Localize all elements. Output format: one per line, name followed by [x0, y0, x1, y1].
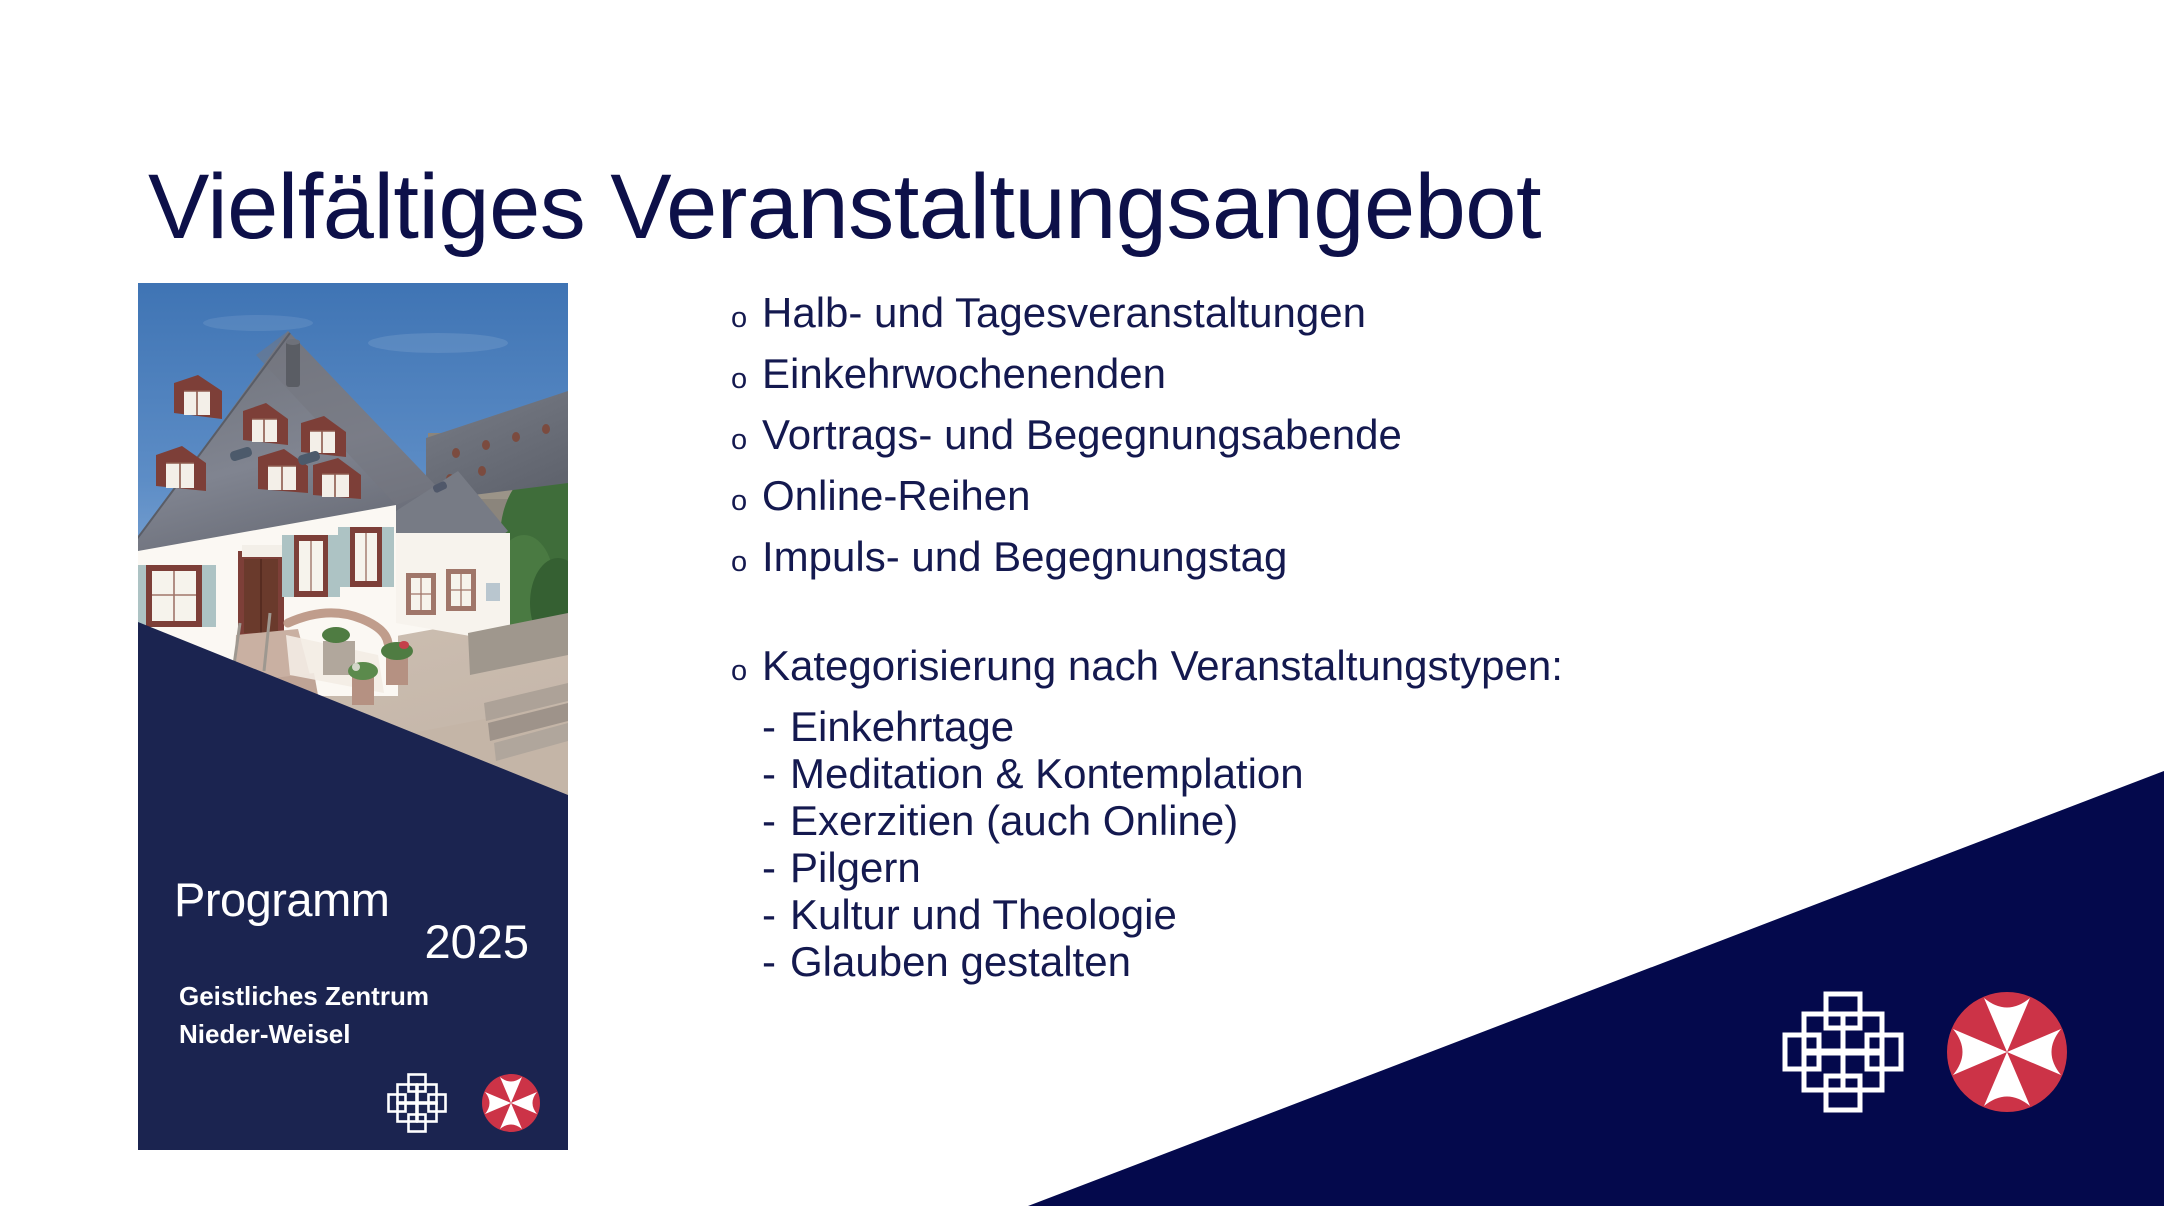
list-item-label: Halb- und Tagesveranstaltungen	[762, 292, 1366, 334]
sublist-item-label: Exerzitien (auch Online)	[790, 800, 1238, 842]
bullet-marker-icon: o	[731, 304, 762, 333]
brochure-navy-overlay	[138, 283, 568, 1150]
list-item-label: Kategorisierung nach Veranstaltungstypen…	[762, 645, 1563, 687]
johanniter-cross-icon	[1785, 994, 1901, 1110]
list-item-categories-heading: o Kategorisierung nach Veranstaltungstyp…	[731, 645, 1911, 687]
list-item-label: Online-Reihen	[762, 475, 1031, 517]
sublist-item: - Exerzitien (auch Online)	[731, 800, 1911, 842]
bullet-marker-icon: o	[731, 426, 762, 455]
dash-marker-icon: -	[762, 847, 790, 889]
sublist-item: - Pilgern	[731, 847, 1911, 889]
dash-marker-icon: -	[762, 706, 790, 748]
bullet-marker-icon: o	[731, 548, 762, 577]
dash-marker-icon: -	[762, 753, 790, 795]
sublist-item: - Glauben gestalten	[731, 941, 1911, 983]
event-types-list: o Halb- und Tagesveranstaltungen o Einke…	[731, 292, 1911, 988]
sublist-item-label: Pilgern	[790, 847, 921, 889]
sublist-item: - Kultur und Theologie	[731, 894, 1911, 936]
sublist-item-label: Meditation & Kontemplation	[790, 753, 1304, 795]
maltese-cross-icon	[1947, 992, 2067, 1112]
sublist-item-label: Glauben gestalten	[790, 941, 1131, 983]
dash-marker-icon: -	[762, 894, 790, 936]
list-item: o Einkehrwochenenden	[731, 353, 1911, 395]
bullet-marker-icon: o	[731, 487, 762, 516]
dash-marker-icon: -	[762, 941, 790, 983]
list-item: o Impuls- und Begegnungstag	[731, 536, 1911, 578]
sublist-item-label: Einkehrtage	[790, 706, 1014, 748]
list-item: o Vortrags- und Begegnungsabende	[731, 414, 1911, 456]
footer-logo-group	[1778, 988, 2068, 1118]
list-item: o Halb- und Tagesveranstaltungen	[731, 292, 1911, 334]
bullet-marker-icon: o	[731, 657, 762, 686]
slide-canvas: Vielfältiges Veranstaltungsangebot	[0, 0, 2164, 1206]
list-item-label: Einkehrwochenenden	[762, 353, 1166, 395]
list-item: o Online-Reihen	[731, 475, 1911, 517]
list-item-label: Impuls- und Begegnungstag	[762, 536, 1287, 578]
brochure-card: Programm 2025 Geistliches Zentrum Nieder…	[138, 283, 568, 1150]
sublist-item: - Meditation & Kontemplation	[731, 753, 1911, 795]
category-sublist: - Einkehrtage - Meditation & Kontemplati…	[731, 706, 1911, 983]
sublist-item-label: Kultur und Theologie	[790, 894, 1177, 936]
bullet-marker-icon: o	[731, 365, 762, 394]
list-item-label: Vortrags- und Begegnungsabende	[762, 414, 1402, 456]
dash-marker-icon: -	[762, 800, 790, 842]
list-spacer	[731, 597, 1911, 645]
page-title: Vielfältiges Veranstaltungsangebot	[148, 160, 2048, 256]
sublist-item: - Einkehrtage	[731, 706, 1911, 748]
